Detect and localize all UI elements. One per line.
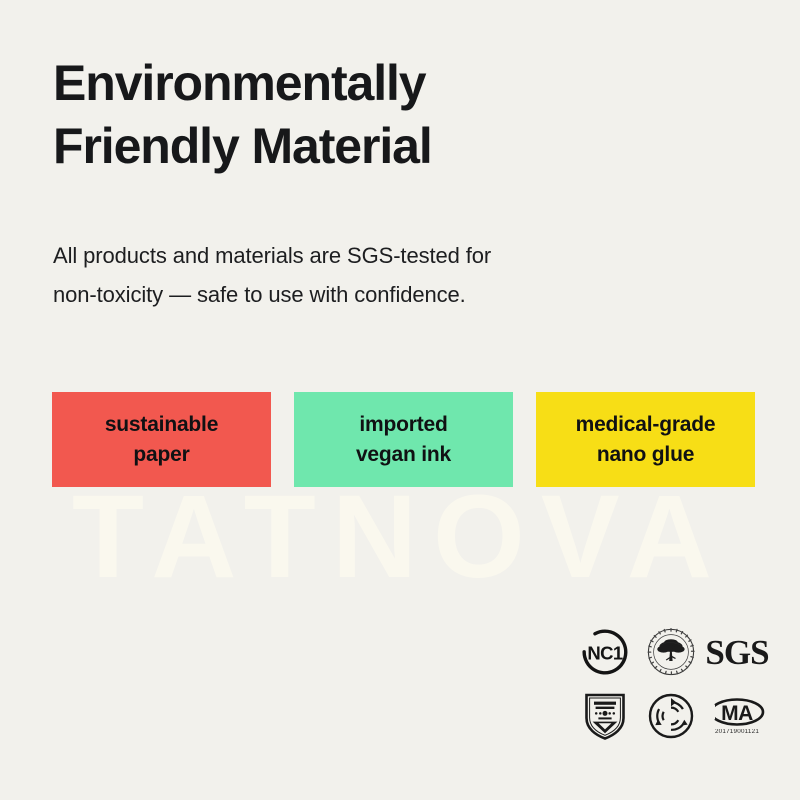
certification-logo-grid: NC1 [572, 620, 772, 748]
cma-certification-icon: MA [709, 697, 765, 727]
sgs-certification-icon: SGS [705, 635, 768, 670]
certification-logo-sgs: SGS [704, 620, 770, 684]
material-badge-line-1: imported [359, 410, 447, 440]
page-subtitle: All products and materials are SGS-teste… [53, 236, 653, 314]
page-subtitle-line-2: non-toxicity — safe to use with confiden… [53, 275, 653, 314]
certification-logo-nc1: NC1 [572, 620, 638, 684]
certification-logo-forest-seal [638, 620, 704, 684]
brand-watermark: TATNOVA [0, 478, 800, 596]
material-badge-imported-vegan-ink: imported vegan ink [294, 392, 513, 487]
material-badge-row: sustainable paper imported vegan ink med… [52, 392, 755, 487]
material-badge-line-2: vegan ink [356, 440, 451, 470]
material-badge-line-2: nano glue [597, 440, 694, 470]
nc1-certification-icon: NC1 [581, 628, 629, 676]
svg-text:NC1: NC1 [587, 643, 623, 664]
certification-logo-cma: MA 201719001121 [704, 684, 770, 748]
poster-canvas: TATNOVA Environmentally Friendly Materia… [0, 0, 800, 800]
certification-logo-shield [572, 684, 638, 748]
material-badge-line-1: sustainable [105, 410, 218, 440]
forest-tree-seal-icon [646, 627, 696, 677]
page-title-line-2: Friendly Material [53, 115, 693, 178]
cma-certification-code: 201719001121 [715, 729, 759, 735]
material-badge-line-1: medical-grade [576, 410, 716, 440]
material-badge-line-2: paper [133, 440, 189, 470]
svg-text:MA: MA [721, 702, 753, 725]
material-badge-medical-grade-nano-glue: medical-grade nano glue [536, 392, 755, 487]
recycle-arrows-icon [647, 692, 695, 740]
shield-badge-icon [583, 692, 627, 740]
certification-logo-recycle [638, 684, 704, 748]
page-title: Environmentally Friendly Material [53, 52, 693, 178]
page-subtitle-line-1: All products and materials are SGS-teste… [53, 236, 653, 275]
material-badge-sustainable-paper: sustainable paper [52, 392, 271, 487]
page-title-line-1: Environmentally [53, 52, 693, 115]
